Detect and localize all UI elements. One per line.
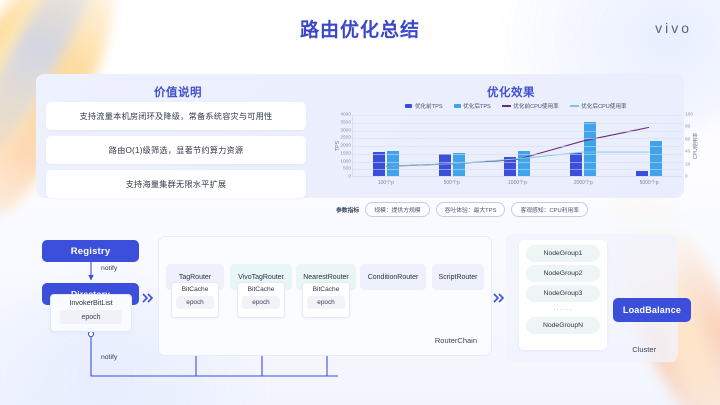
y-axis-tick-left: 4000 [340, 113, 351, 118]
nodegroup-ellipsis: ······ [526, 305, 600, 314]
bitcache-title: BitCache [172, 286, 218, 293]
param-indicator-bar: 参数指标 规模：提供方规模 吞吐体验：最大TPS 客观感知：CPU利用率 [336, 202, 716, 217]
node-loadbalance[interactable]: LoadBalance [613, 298, 691, 322]
bitcache-epoch: epoch [176, 296, 214, 309]
chart-gridline [353, 123, 682, 124]
y-axis-tick-left: 1500 [340, 151, 351, 156]
slide-root: 路由优化总结 vivo 价值说明 优化效果 支持流量本机房闭环及降级，常备系统容… [0, 0, 720, 405]
legend-label: 优化后TPS [463, 102, 491, 110]
y-axis-tick-right: 0 [685, 175, 688, 180]
y-axis-tick-right: 100 [685, 113, 693, 118]
legend-swatch [454, 104, 461, 108]
value-row: 路由O(1)级筛选，显著节约算力资源 [46, 136, 306, 164]
x-axis-tick: 100个p [353, 179, 419, 186]
nodegroup-list: NodeGroup1 NodeGroup2 NodeGroup3 ······ … [519, 240, 607, 350]
legend-item-before-cpu: 优化前CPU使用率 [502, 102, 559, 110]
invoker-bitlist-box: InvokerBitList epoch [50, 294, 132, 332]
value-row: 支持海量集群无限水平扩展 [46, 170, 306, 198]
value-row-list: 支持流量本机房闭环及降级，常备系统容灾与可用性 路由O(1)级筛选，显著节约算力… [46, 102, 306, 204]
nodegroup-item[interactable]: NodeGroup3 [526, 285, 600, 302]
legend-line [502, 105, 511, 107]
architecture-diagram: Registry notify Directory InvokerBitList… [0, 228, 720, 388]
chart-gridline [353, 115, 682, 116]
y-axis-tick-left: 2500 [340, 136, 351, 141]
y-axis-tick-left: 1000 [340, 159, 351, 164]
x-axis-tick: 1000个p [485, 179, 551, 186]
routerchain-label: RouterChain [435, 336, 477, 345]
bitcache-title: BitCache [303, 286, 349, 293]
legend-item-after-cpu: 优化后CPU使用率 [570, 102, 627, 110]
legend-label: 优化前CPU使用率 [513, 102, 558, 110]
bitcache-title: BitCache [238, 286, 284, 293]
invoker-bitlist-title: InvokerBitList [51, 298, 131, 307]
value-row: 支持流量本机房闭环及降级，常备系统容灾与可用性 [46, 102, 306, 130]
legend-label: 优化后CPU使用率 [581, 102, 626, 110]
x-axis-tick: 2000个p [550, 179, 616, 186]
bitcache-epoch: epoch [242, 296, 280, 309]
chart-gridline [353, 154, 682, 155]
chart-panel-heading: 优化效果 [431, 84, 591, 100]
router-scriptrouter[interactable]: ScriptRouter [432, 264, 484, 290]
node-registry[interactable]: Registry [42, 240, 139, 262]
optimization-chart: 优化前TPS 优化后TPS 优化前CPU使用率 优化后CPU使用率 TPS CP… [326, 102, 720, 198]
chart-gridline [353, 131, 682, 132]
legend-item-before-tps: 优化前TPS [405, 102, 442, 110]
page-title: 路由优化总结 [0, 17, 720, 45]
y-axis-title-right: CPU使用率 [692, 132, 699, 159]
y-axis-tick-right: 40 [685, 150, 690, 155]
slide-header: 路由优化总结 vivo [0, 17, 720, 47]
cluster-label: Cluster [632, 345, 656, 354]
summary-card: 价值说明 优化效果 支持流量本机房闭环及降级，常备系统容灾与可用性 路由O(1)… [36, 74, 684, 198]
nodegroup-item[interactable]: NodeGroupN [526, 317, 600, 334]
y-axis-tick-right: 60 [685, 137, 690, 142]
param-label: 参数指标 [336, 205, 359, 214]
y-axis-tick-left: 500 [343, 167, 351, 172]
y-axis-tick-left: 2000 [340, 144, 351, 149]
value-panel-heading: 价值说明 [98, 84, 258, 100]
legend-line [570, 105, 579, 107]
chart-legend: 优化前TPS 优化后TPS 优化前CPU使用率 优化后CPU使用率 [326, 102, 706, 110]
param-pill: 规模：提供方规模 [365, 202, 429, 217]
bitcache-box: BitCache epoch [171, 282, 219, 318]
x-axis-tick: 5000个p [616, 179, 682, 186]
legend-swatch [405, 104, 412, 108]
y-axis-tick-left: 3000 [340, 128, 351, 133]
chart-plot-area: TPS CPU使用率 100个p500个p1000个p2000个p5000个p … [352, 115, 682, 177]
y-axis-tick-right: 20 [685, 162, 690, 167]
param-pill: 吞吐体验：最大TPS [436, 202, 506, 217]
y-axis-tick-left: 0 [348, 175, 351, 180]
chart-gridline [353, 162, 682, 163]
y-axis-tick-left: 3500 [340, 120, 351, 125]
notify-label-bottom: notify [101, 354, 117, 361]
invoker-epoch-chip: epoch [60, 310, 122, 324]
chart-gridline [353, 146, 682, 147]
y-axis-tick-right: 80 [685, 125, 690, 130]
bitcache-box: BitCache epoch [237, 282, 285, 318]
bitcache-box: BitCache epoch [302, 282, 350, 318]
chart-gridline [353, 138, 682, 139]
vivo-logo: vivo [655, 20, 692, 36]
param-pill: 客观感知：CPU利用率 [511, 202, 588, 217]
legend-label: 优化前TPS [415, 102, 443, 110]
notify-label-top: notify [101, 265, 117, 272]
nodegroup-item[interactable]: NodeGroup2 [526, 265, 600, 282]
bitcache-epoch: epoch [307, 296, 345, 309]
router-conditionrouter[interactable]: ConditionRouter [360, 264, 426, 290]
nodegroup-item[interactable]: NodeGroup1 [526, 245, 600, 262]
x-axis-tick: 500个p [419, 179, 485, 186]
chart-gridline [353, 169, 682, 170]
legend-item-after-tps: 优化后TPS [454, 102, 491, 110]
